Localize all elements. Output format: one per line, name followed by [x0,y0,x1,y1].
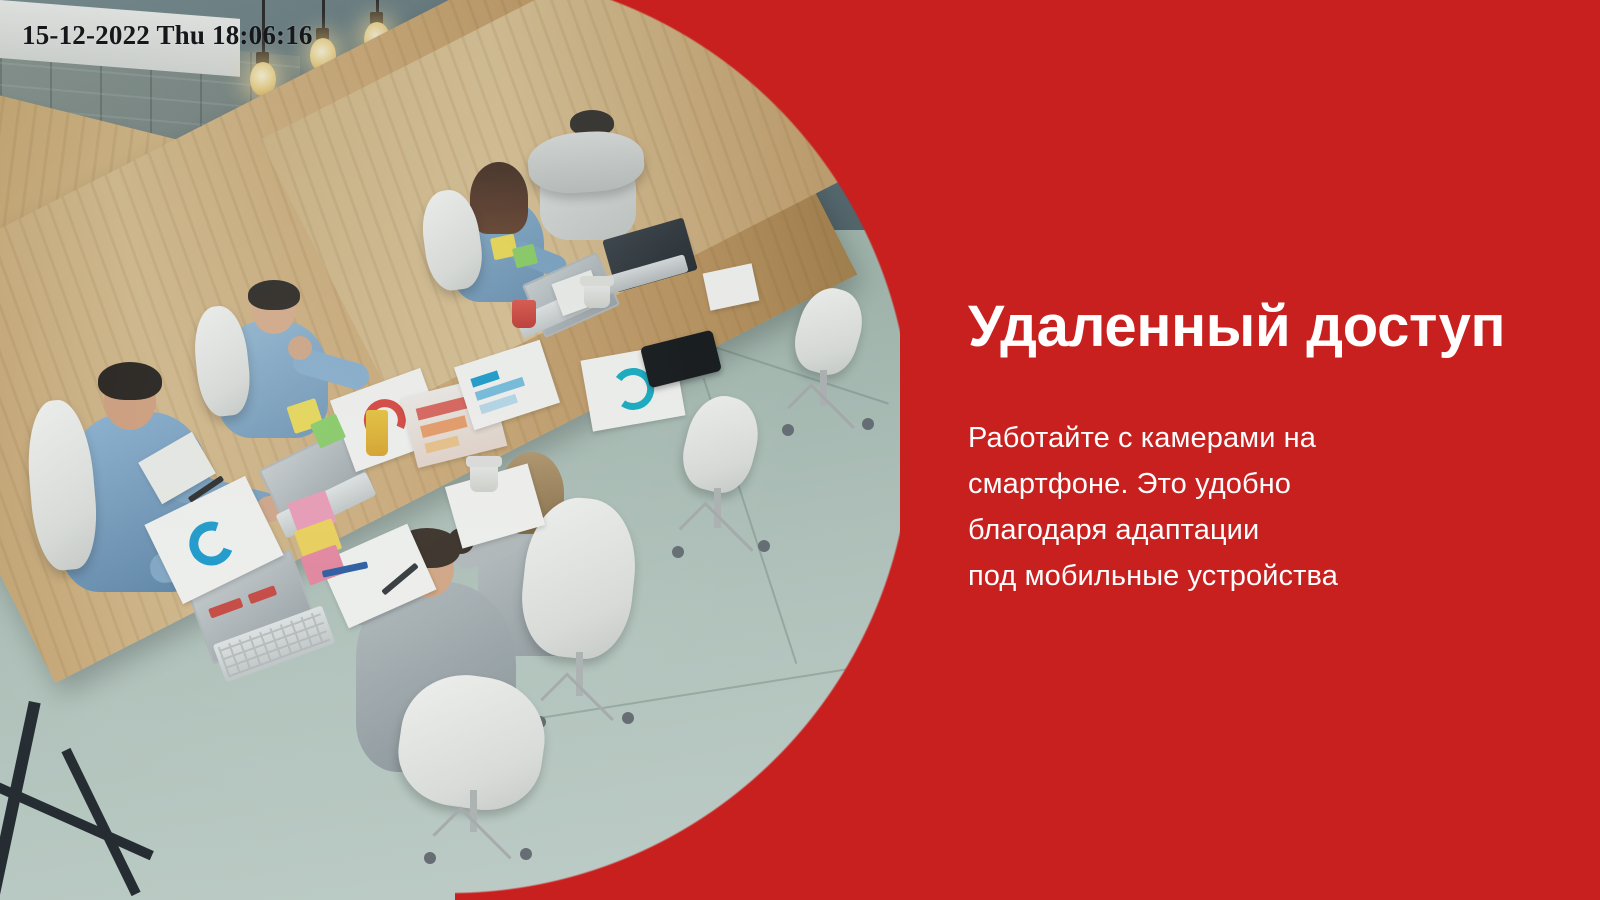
body-line: смартфоне. Это удобно [968,461,1568,507]
chair-caster [622,712,634,724]
chair-caster [424,852,436,864]
red-cup [512,300,536,328]
copy-block: Удаленный доступ Работайте с камерами на… [968,296,1568,599]
hair [248,280,300,310]
camera-timestamp: 15-12-2022 Thu 18:06:16 [22,20,313,51]
chair-caster [758,540,770,552]
photo-circle-mask [0,0,900,900]
hair [98,362,162,400]
juice-bottle [366,410,388,456]
office-meeting-photo [0,0,900,900]
hand [288,336,312,360]
cup-lid [580,276,614,286]
promo-slide: 15-12-2022 Thu 18:06:16 Удаленный доступ… [0,0,1600,900]
donut-chart [182,514,241,573]
bar [420,415,468,438]
body-line: благодаря адаптации [968,507,1568,553]
screen-bar [208,598,243,619]
page-title: Удаленный доступ [968,296,1568,359]
chair-caster [862,418,874,430]
chair-caster [782,424,794,436]
body-line: под мобильные устройства [968,553,1568,599]
screen-bar [248,585,278,604]
body-line: Работайте с камерами на [968,415,1568,461]
hair [470,162,528,234]
chair-caster [520,848,532,860]
bar [424,436,459,454]
body-paragraph: Работайте с камерами на смартфоне. Это у… [968,415,1568,599]
chair-caster [672,546,684,558]
cup-lid [466,456,502,467]
